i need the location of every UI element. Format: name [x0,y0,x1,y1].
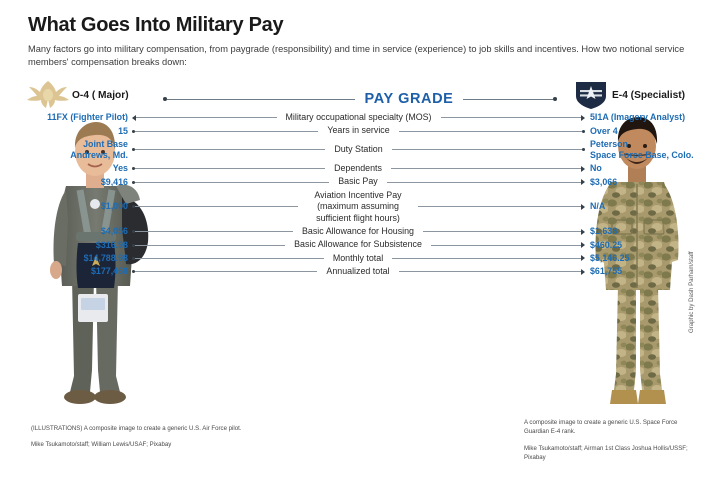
table-row: $1,000 Aviation Incentive Pay(maximum as… [0,190,720,224]
table-row: $14,788.98 Monthly total $5,146.25 [0,253,720,264]
arrow-left-icon [132,244,285,247]
row-value-right: N/A [585,201,720,212]
arrow-left-icon [132,115,277,121]
rule-line-left [167,99,355,100]
arrow-right-icon [399,130,585,133]
row-connectors: Basic Pay [132,176,585,187]
row-value-left: $14,788.98 [0,253,132,264]
arrow-right-icon [392,148,585,151]
arrow-left-icon [132,257,324,260]
page-title: What Goes Into Military Pay [28,14,700,36]
row-value-right: PetersonSpace Force Base, Colo. [585,139,720,161]
arrow-right-icon [392,255,585,261]
row-connectors: Aviation Incentive Pay(maximum assumings… [132,190,585,224]
arrow-right-icon [418,204,585,210]
row-connectors: Dependents [132,163,585,174]
row-value-right: Over 4 [585,126,720,137]
row-label: Duty Station [331,144,385,155]
table-row: Joint BaseAndrews, Md. Duty Station Pete… [0,139,720,161]
row-value-right: 5I1A (Imagery Analyst) [585,112,720,123]
table-row: 11FX (Fighter Pilot) Military occupation… [0,112,720,123]
arrow-right-icon [399,269,585,275]
row-label: Aviation Incentive Pay(maximum assumings… [304,190,412,224]
arrow-right-icon [387,179,585,185]
rule-line-right [463,99,553,100]
row-label: Years in service [324,125,392,136]
table-row: $9,416 Basic Pay $3,066 [0,176,720,187]
row-value-left: 11FX (Fighter Pilot) [0,112,132,123]
row-connectors: Duty Station [132,144,585,155]
table-row: $177,468 Annualized total $61,755 [0,266,720,277]
arrow-right-icon [431,242,585,248]
credit-left-line2: Mike Tsukamoto/staff; William Lewis/USAF… [31,440,271,449]
arrow-right-icon [391,166,585,172]
arrow-left-icon [132,130,318,133]
arrow-left-icon [132,270,317,273]
row-value-left: $177,468 [0,266,132,277]
row-connectors: Years in service [132,125,585,136]
row-value-right: No [585,163,720,174]
row-value-left: Joint BaseAndrews, Md. [0,139,132,161]
row-value-right: $5,146.25 [585,253,720,264]
credit-right-line2: Mike Tsukamoto/staff; Airman 1st Class J… [524,444,704,463]
credit-left: (ILLUSTRATIONS) A composite image to cre… [31,424,271,450]
row-connectors: Basic Allowance for Subsistence [132,239,585,250]
page-subtitle: Many factors go into military compensati… [28,43,688,70]
arrow-left-icon [132,230,293,233]
row-value-left: $316.98 [0,240,132,251]
row-value-right: $61,755 [585,266,720,277]
row-connectors: Basic Allowance for Housing [132,226,585,237]
comparison-rows: 11FX (Fighter Pilot) Military occupation… [0,112,720,280]
row-value-left: $1,000 [0,201,132,212]
row-label: Annualized total [323,266,392,277]
arrow-right-icon [441,115,586,121]
table-row: $4,056 Basic Allowance for Housing $1,63… [0,226,720,237]
credit-right: A composite image to create a generic U.… [524,418,704,463]
rule-dot-right [553,97,557,101]
gold-oak-leaf-icon [26,78,70,108]
row-value-left: $4,056 [0,226,132,237]
row-label: Basic Allowance for Housing [299,226,417,237]
row-connectors: Monthly total [132,253,585,264]
credit-left-line1: (ILLUSTRATIONS) A composite image to cre… [31,424,271,433]
rank-label-left: O-4 ( Major) [72,90,129,101]
row-label: Monthly total [330,253,386,264]
arrow-left-icon [132,181,329,184]
row-label: Military occupational specialty (MOS) [283,112,435,123]
row-connectors: Annualized total [132,266,585,277]
arrow-right-icon [423,229,585,235]
row-value-left: Yes [0,163,132,174]
table-row: $316.98 Basic Allowance for Subsistence … [0,239,720,250]
table-row: Yes Dependents No [0,163,720,174]
row-value-right: $1,638 [585,226,720,237]
row-value-right: $3,066 [585,177,720,188]
paygrade-label: PAY GRADE [355,91,464,107]
header: What Goes Into Military Pay Many factors… [28,14,700,70]
row-label: Basic Allowance for Subsistence [291,239,425,250]
credit-right-line1: A composite image to create a generic U.… [524,418,704,437]
row-value-right: $460.25 [585,240,720,251]
arrow-left-icon [132,148,325,151]
row-value-left: $9,416 [0,177,132,188]
space-force-e4-shield-icon [574,80,608,110]
table-row: 15 Years in service Over 4 [0,125,720,136]
row-label: Basic Pay [335,176,380,187]
rank-label-right: E-4 (Specialist) [612,90,685,101]
row-label: Dependents [331,163,385,174]
arrow-left-icon [132,167,325,170]
infographic-page: What Goes Into Military Pay Many factors… [0,0,720,486]
row-value-left: 15 [0,126,132,137]
graphic-credit-vertical: Graphic by Dash Parham/staff [688,251,695,333]
arrow-left-icon [132,205,298,208]
row-connectors: Military occupational specialty (MOS) [132,112,585,123]
